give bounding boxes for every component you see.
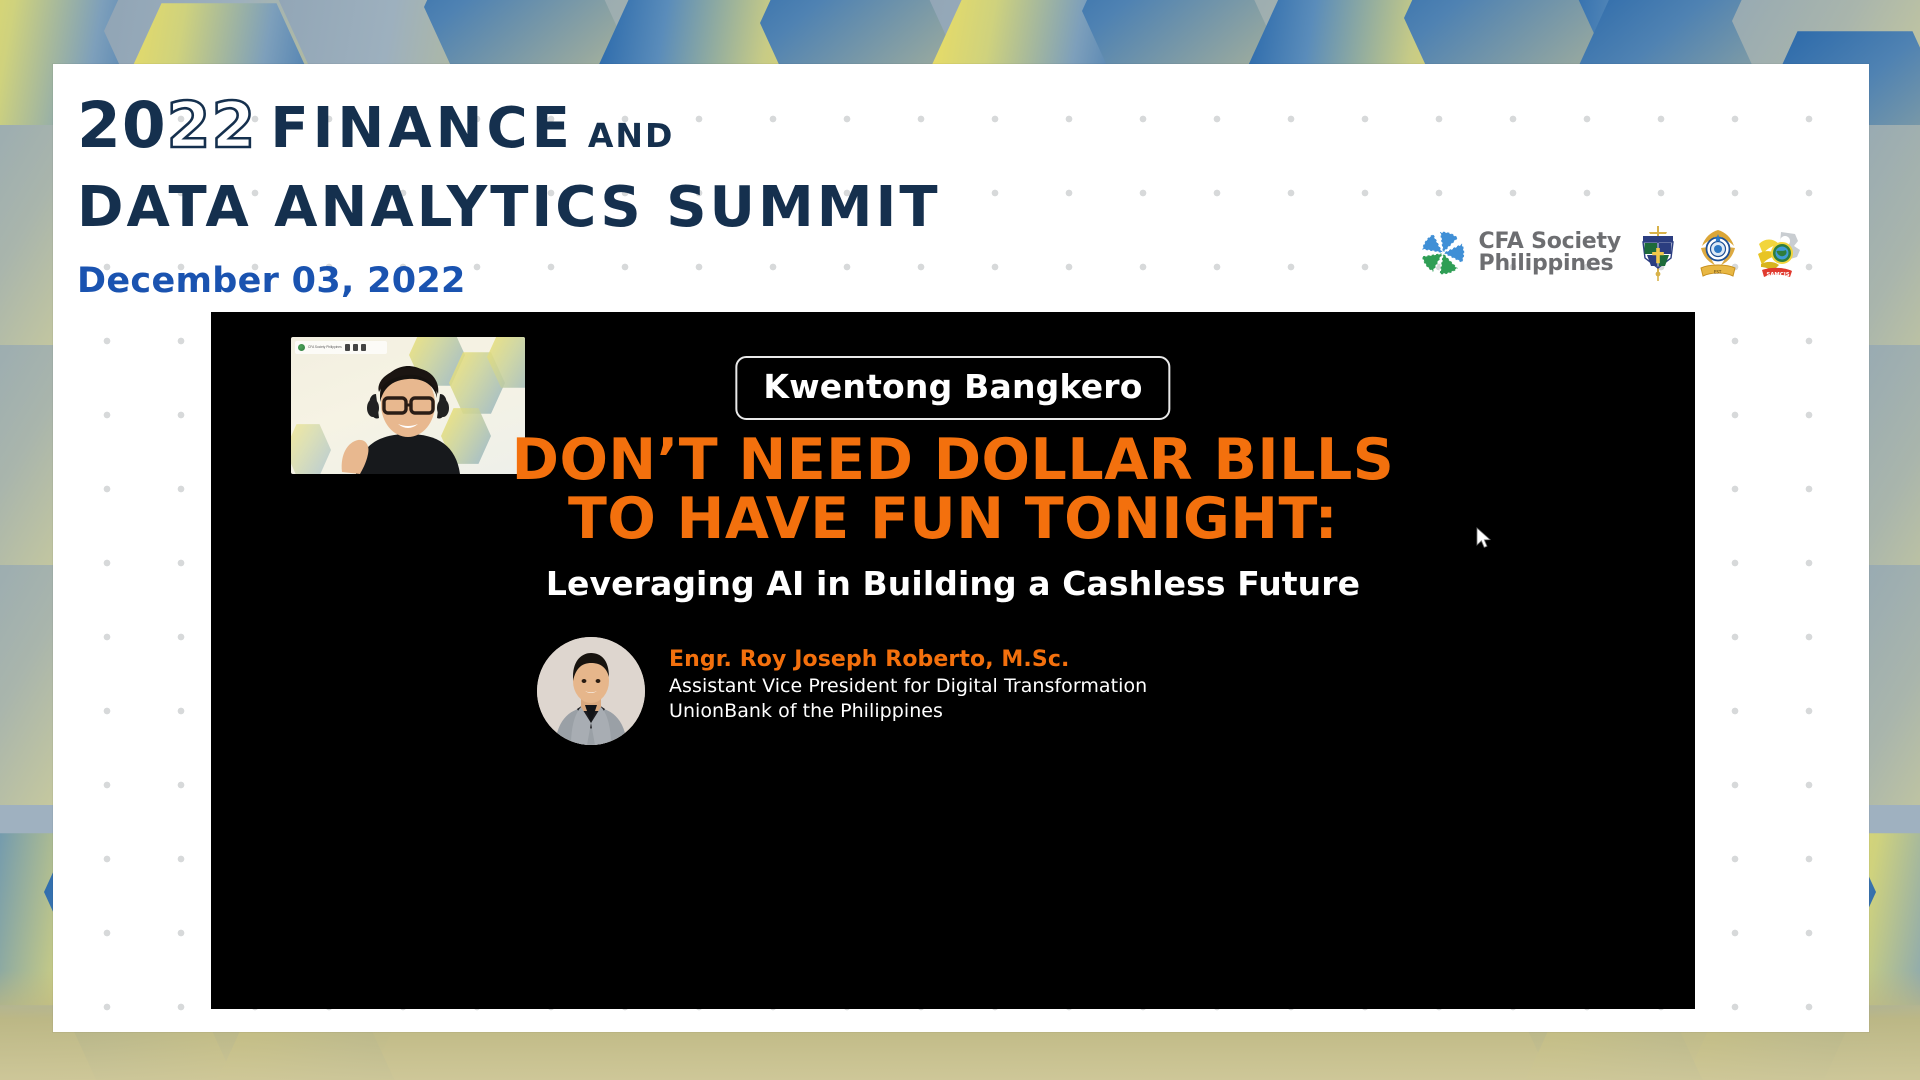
title-word-finance: FINANCE [270, 101, 574, 157]
event-date: December 03, 2022 [77, 261, 941, 301]
sponsor-logo-row: CFA Society Philippines [1417, 224, 1801, 282]
university-crest-logo [1635, 224, 1681, 282]
pin-icon [345, 344, 350, 351]
cfa-mini-icon [298, 344, 305, 351]
cfa-pinwheel-icon [1417, 227, 1469, 279]
speaker-block: Engr. Roy Joseph Roberto, M.Sc. Assistan… [537, 637, 1147, 745]
organization-seal-logo: EST. [1695, 224, 1741, 282]
segment-label-text: Kwentong Bangkero [763, 367, 1142, 406]
speaker-name: Engr. Roy Joseph Roberto, M.Sc. [669, 646, 1147, 674]
cfa-logo-line1: CFA Society [1479, 231, 1621, 253]
segment-label-box: Kwentong Bangkero [735, 356, 1170, 420]
title-word-and: AND [588, 119, 675, 152]
event-title-line2: DATA ANALYTICS SUMMIT [77, 180, 941, 236]
cfa-society-philippines-logo: CFA Society Philippines [1417, 227, 1621, 279]
year-solid-part: 20 [77, 94, 167, 157]
samcis-eagle-logo: SAMCIS [1755, 224, 1801, 282]
year-outline-part: 22 [167, 94, 257, 157]
presentation-slide[interactable]: CFA Society Philippines Kwentong Bangker… [211, 312, 1695, 1009]
slide-subtitle: Leveraging AI in Building a Cashless Fut… [211, 564, 1695, 603]
slide-headline: DON’T NEED DOLLAR BILLS TO HAVE FUN TONI… [211, 431, 1695, 550]
screen: 20 22 FINANCE AND DATA ANALYTICS SUMMIT … [0, 0, 1920, 1080]
webcam-participant-name: CFA Society Philippines [308, 346, 342, 350]
svg-text:EST.: EST. [1714, 270, 1722, 275]
speaker-avatar [537, 637, 645, 745]
event-header: 20 22 FINANCE AND DATA ANALYTICS SUMMIT … [77, 94, 941, 301]
speaker-organization: UnionBank of the Philippines [669, 699, 1147, 724]
svg-text:SAMCIS: SAMCIS [1766, 272, 1789, 278]
speaker-role: Assistant Vice President for Digital Tra… [669, 674, 1147, 699]
slide-headline-line1: DON’T NEED DOLLAR BILLS [211, 431, 1695, 490]
mouse-cursor [1476, 527, 1494, 551]
slide-headline-line2: TO HAVE FUN TONIGHT: [211, 490, 1695, 549]
cfa-logo-line2: Philippines [1479, 253, 1621, 275]
event-title-line1: 20 22 FINANCE AND [77, 94, 941, 157]
camera-off-icon [353, 344, 358, 351]
mic-icon [361, 344, 366, 351]
webcam-participant-badge: CFA Society Philippines [295, 341, 387, 354]
